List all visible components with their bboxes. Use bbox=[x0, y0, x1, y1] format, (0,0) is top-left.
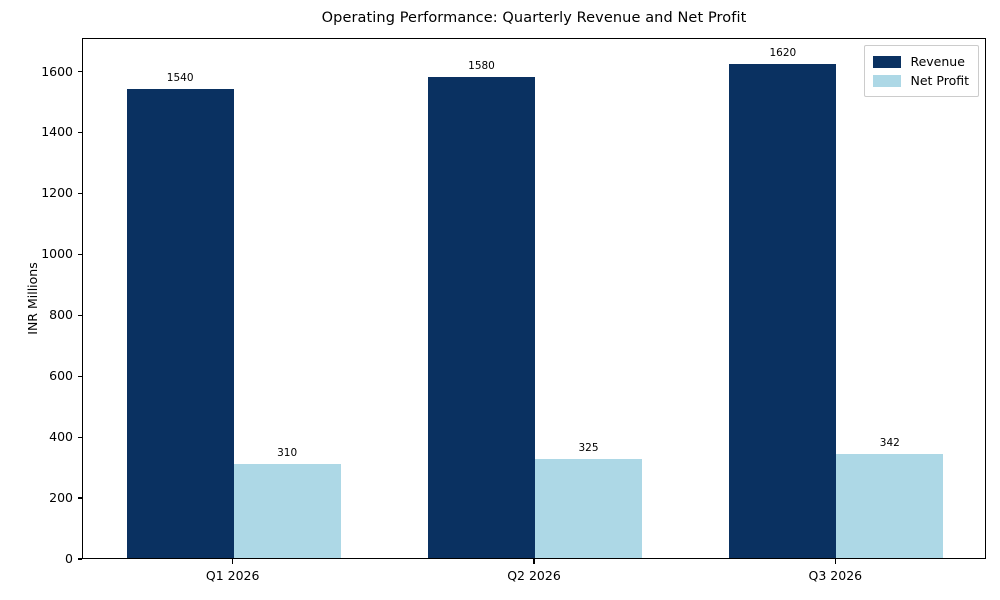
legend-item-net-profit: Net Profit bbox=[873, 71, 969, 90]
chart-title: Operating Performance: Quarterly Revenue… bbox=[82, 10, 986, 26]
chart-legend: Revenue Net Profit bbox=[864, 45, 979, 97]
bars-layer: 154031015803251620342 bbox=[83, 39, 985, 558]
legend-swatch-revenue bbox=[873, 56, 901, 68]
bar-value-label: 1540 bbox=[167, 72, 194, 84]
y-axis-tick-label: 1600 bbox=[41, 64, 73, 80]
bar-value-label: 1620 bbox=[769, 47, 796, 59]
y-axis-label: INR Millions bbox=[22, 38, 44, 559]
bar-value-label: 1580 bbox=[468, 60, 495, 72]
bar-net-profit[interactable] bbox=[535, 459, 642, 558]
x-axis-tick-mark bbox=[533, 559, 534, 564]
bar-revenue[interactable] bbox=[729, 64, 836, 558]
bar-revenue[interactable] bbox=[127, 89, 234, 558]
legend-swatch-net-profit bbox=[873, 75, 901, 87]
bar-value-label: 342 bbox=[880, 437, 900, 449]
bar-value-label: 325 bbox=[578, 442, 598, 454]
legend-item-revenue: Revenue bbox=[873, 52, 969, 71]
y-axis-tick-label: 1400 bbox=[41, 124, 73, 140]
bar-revenue[interactable] bbox=[428, 77, 535, 558]
x-axis-tick-mark bbox=[835, 559, 836, 564]
legend-label-net-profit: Net Profit bbox=[910, 71, 969, 90]
bar-net-profit[interactable] bbox=[836, 454, 943, 558]
y-axis-tick-label: 800 bbox=[49, 307, 73, 323]
legend-label-revenue: Revenue bbox=[910, 52, 964, 71]
y-axis-tick-label: 400 bbox=[49, 429, 73, 445]
y-axis-tick-label: 200 bbox=[49, 490, 73, 506]
x-axis-tick-label: Q2 2026 bbox=[507, 568, 561, 584]
plot-area: 154031015803251620342 Revenue Net Profit bbox=[82, 38, 986, 559]
y-axis-tick-label: 600 bbox=[49, 368, 73, 384]
x-axis-tick-mark bbox=[232, 559, 233, 564]
y-axis-tick-label: 1200 bbox=[41, 185, 73, 201]
bar-net-profit[interactable] bbox=[234, 464, 341, 558]
y-axis-tick-label: 1000 bbox=[41, 246, 73, 262]
y-axis-tick-label: 0 bbox=[65, 551, 73, 567]
chart-figure: Operating Performance: Quarterly Revenue… bbox=[0, 0, 1000, 600]
x-axis-tick-label: Q1 2026 bbox=[206, 568, 260, 584]
x-axis-tick-label: Q3 2026 bbox=[809, 568, 863, 584]
bar-value-label: 310 bbox=[277, 447, 297, 459]
